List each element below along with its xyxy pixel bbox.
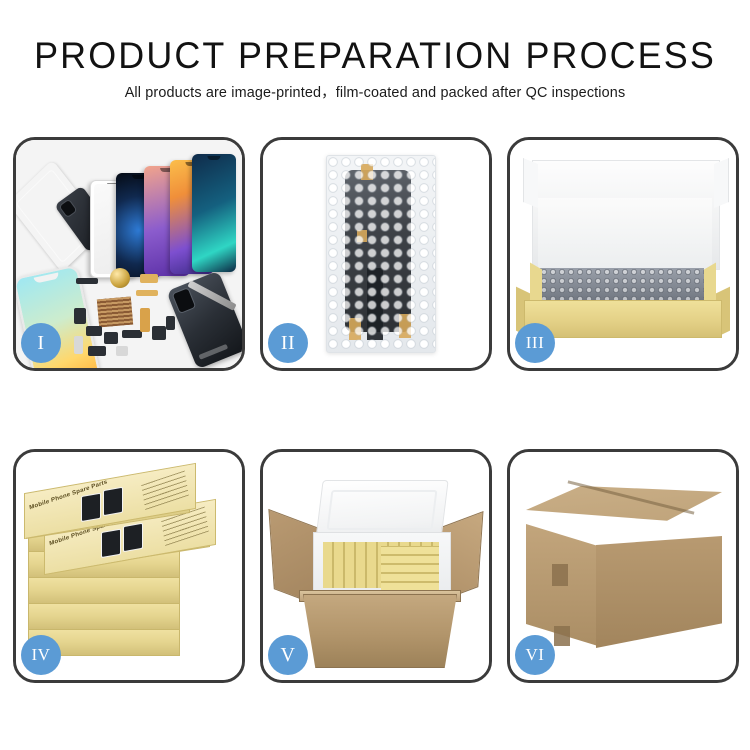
product-preparation-infographic: PRODUCT PREPARATION PROCESS All products… [0,0,750,750]
spec-lines-icon [141,471,189,511]
process-step-6: VI [507,449,739,683]
stacked-box-icon [28,576,180,604]
page-subtitle: All products are image-printed，film-coat… [0,83,750,103]
screen-thumbnail-icon [103,487,123,517]
bubble-wrapped-contents-icon [540,268,704,304]
step-badge-5: V [268,635,308,675]
part-icon [76,278,98,284]
part-icon [140,308,150,332]
carton-right-face-icon [596,536,722,648]
stacked-box-icon [28,602,180,630]
bubble-texture-overlay [327,156,435,352]
part-icon [152,326,166,340]
speaker-module-icon [110,268,130,288]
process-step-3: III [507,137,739,371]
carton-tape-icon [554,626,570,646]
part-icon [116,346,128,356]
part-icon [166,316,175,330]
header: PRODUCT PREPARATION PROCESS All products… [0,34,750,103]
process-step-4: Mobile Phone Spare Parts Mobile Phone Sp… [13,449,245,683]
process-step-5: V [260,449,492,683]
part-icon [140,274,158,283]
screen-thumbnail-icon [123,523,143,553]
part-icon [86,326,102,336]
bubble-wrap-bag-illustration [326,155,436,353]
carton-tape-icon [552,564,568,586]
foam-box-lid-icon [315,480,448,540]
process-step-2: II [260,137,492,371]
page-title: PRODUCT PREPARATION PROCESS [11,34,739,78]
yellow-boxes-row-icon [381,546,439,590]
sealed-carton-illustration [526,486,722,652]
part-icon [74,308,86,324]
chip-grid-icon [97,297,133,328]
process-step-1: I [13,137,245,371]
part-icon [104,332,118,344]
part-icon [74,336,83,354]
screen-thumbnail-icon [81,493,101,523]
part-icon [136,290,158,296]
step-badge-1: I [21,323,61,363]
yellow-box-front-icon [524,300,722,338]
step-badge-4: IV [21,635,61,675]
carton-body-icon [303,594,457,668]
process-step-grid: I II [13,137,739,683]
step-badge-2: II [268,323,308,363]
part-icon [88,346,106,356]
step-badge-6: VI [515,635,555,675]
part-icon [122,330,142,338]
phone-screen-teal-icon [192,154,236,272]
step-badge-3: III [515,323,555,363]
screen-thumbnail-icon [101,529,121,559]
phone-fan-group [88,158,218,288]
foam-sheet-icon [538,198,712,270]
